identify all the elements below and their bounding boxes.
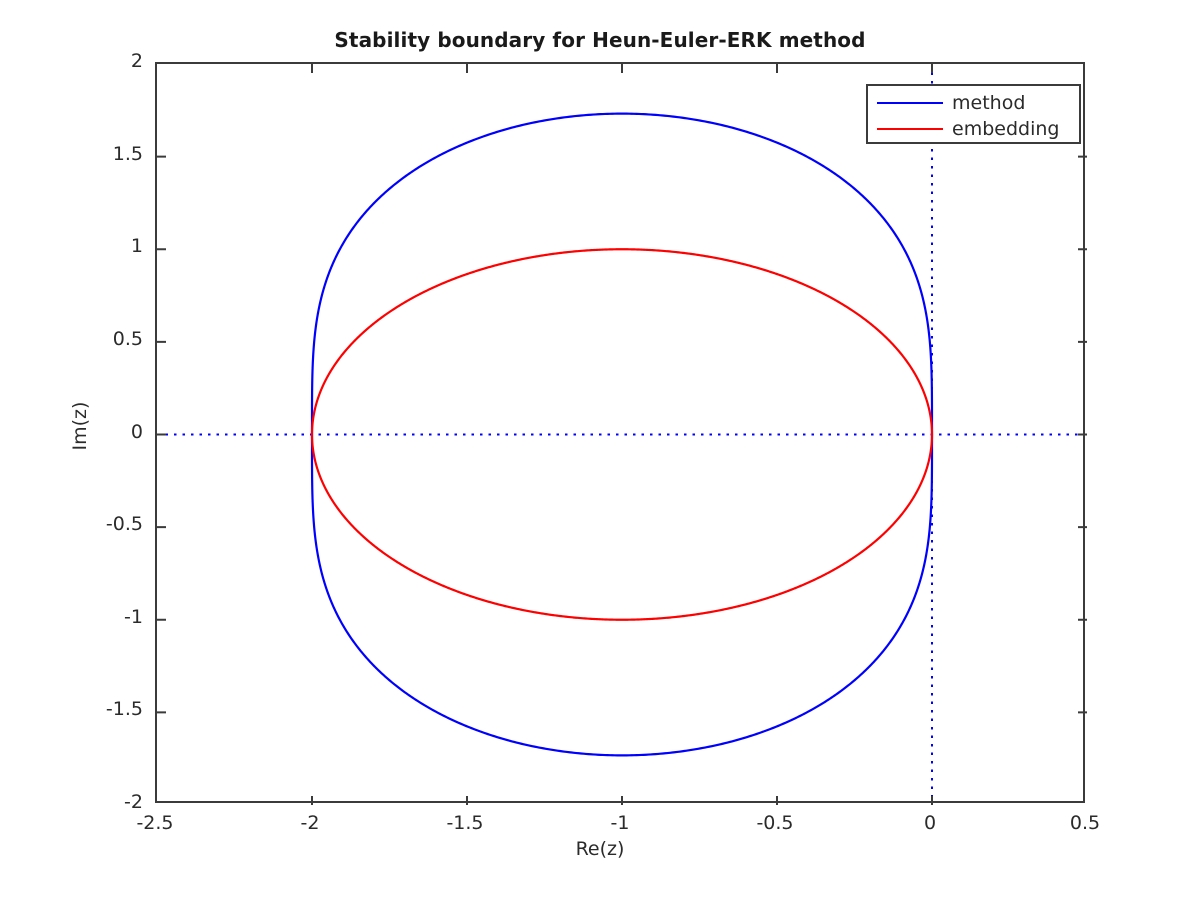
y-tick-label: 0	[53, 421, 143, 443]
x-tick-label: -2.5	[110, 812, 200, 834]
y-tick-label: 1	[53, 235, 143, 257]
legend-swatch-embedding	[877, 128, 943, 130]
y-axis-label: Im(z)	[69, 326, 91, 526]
chart-legend[interactable]: method embedding	[866, 84, 1081, 144]
legend-item-method[interactable]: method	[868, 90, 1079, 116]
y-tick-label: 1.5	[53, 143, 143, 165]
y-tick-label: -1.5	[53, 698, 143, 720]
x-tick-label: 0	[885, 812, 975, 834]
y-tick-label: -0.5	[53, 513, 143, 535]
y-tick-label: 2	[53, 50, 143, 72]
x-tick-label: -0.5	[730, 812, 820, 834]
legend-item-embedding[interactable]: embedding	[868, 116, 1079, 142]
x-tick-label: -1.5	[420, 812, 510, 834]
legend-swatch-method	[877, 102, 943, 104]
y-tick-label: -2	[53, 791, 143, 813]
legend-label-method: method	[952, 94, 1025, 113]
chart-title: Stability boundary for Heun-Euler-ERK me…	[0, 28, 1200, 52]
chart-figure: Stability boundary for Heun-Euler-ERK me…	[0, 0, 1200, 900]
reference-lines	[157, 64, 1087, 805]
plot-area	[155, 62, 1085, 803]
x-tick-label: -1	[575, 812, 665, 834]
x-tick-label: -2	[265, 812, 355, 834]
y-tick-label: 0.5	[53, 328, 143, 350]
legend-label-embedding: embedding	[952, 120, 1059, 139]
plot-canvas	[157, 64, 1087, 805]
x-tick-label: 0.5	[1040, 812, 1130, 834]
x-axis-label: Re(z)	[0, 838, 1200, 860]
y-tick-label: -1	[53, 606, 143, 628]
